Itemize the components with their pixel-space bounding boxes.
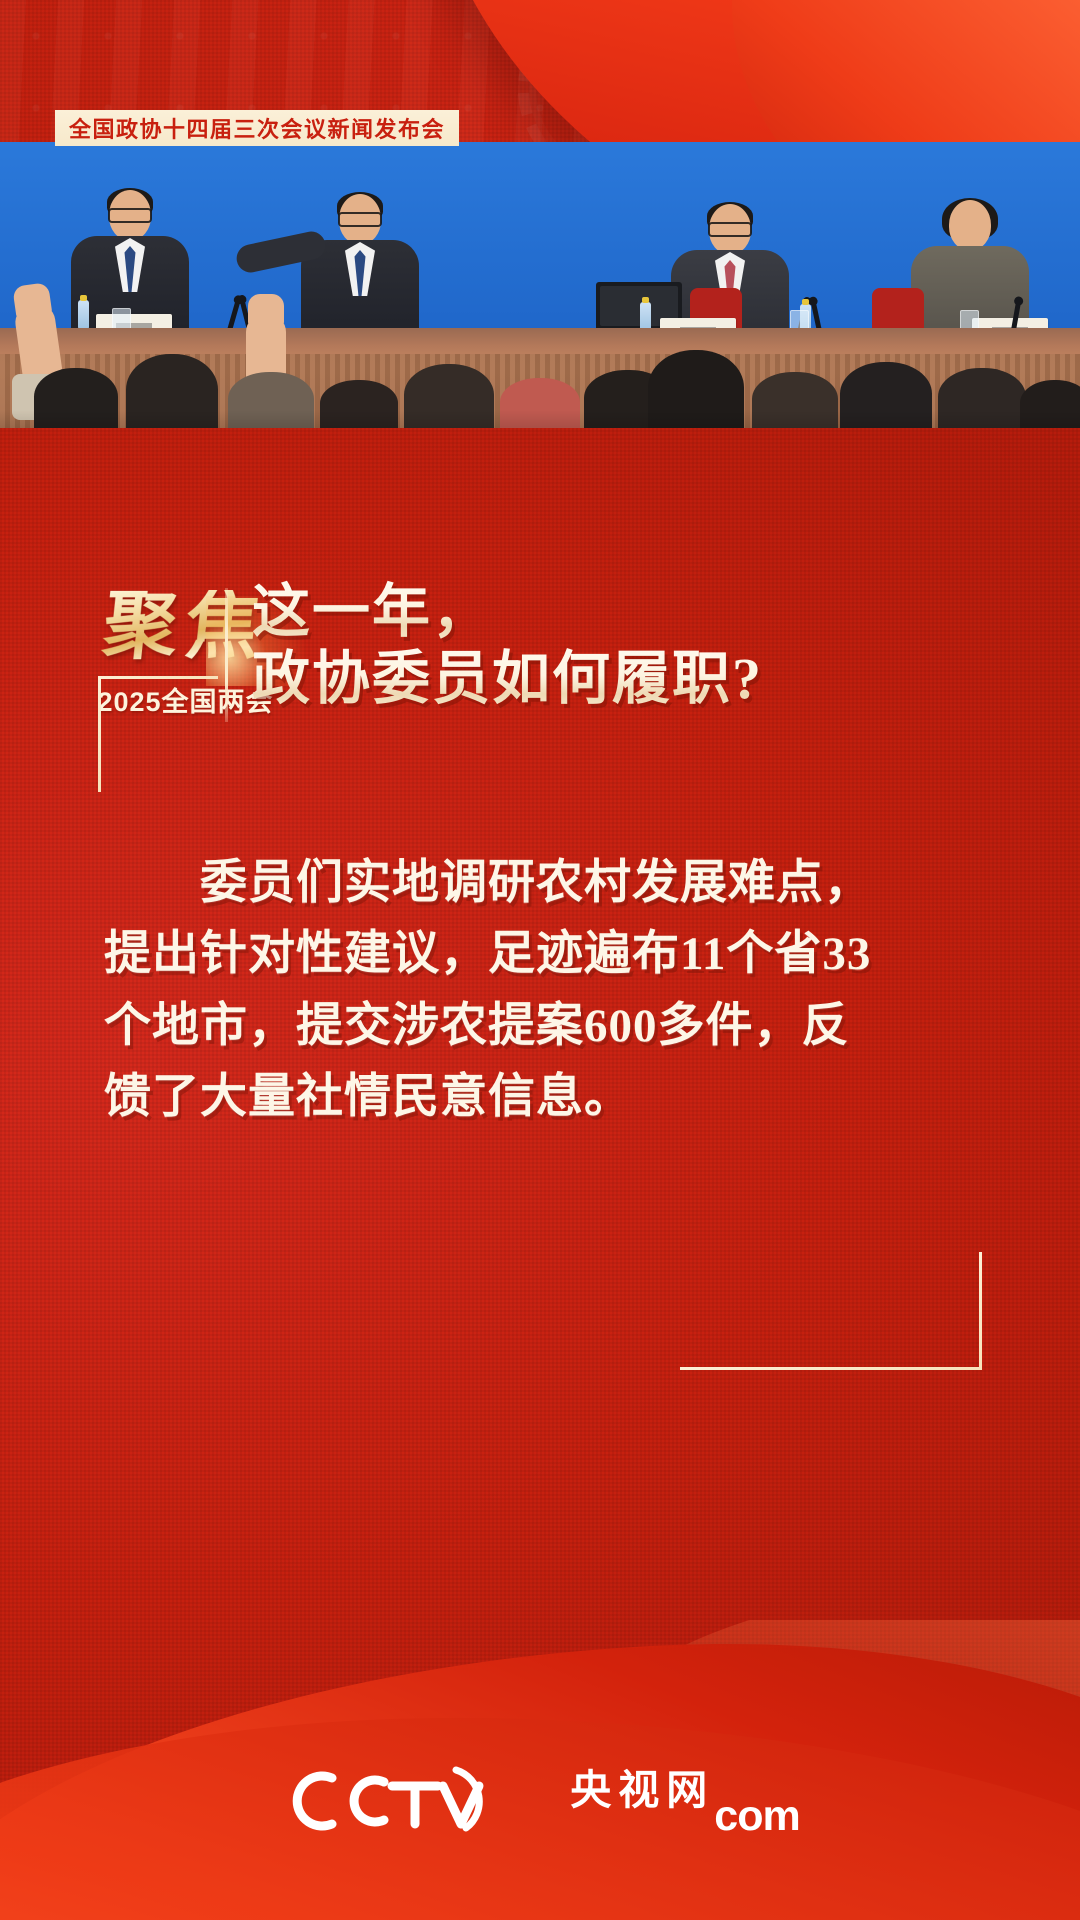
cctv-wordmark-icon xyxy=(280,1764,564,1838)
photo-official-2 xyxy=(290,194,430,344)
headline: 这一年， 政协委员如何履职? xyxy=(252,578,1042,713)
photo-official-4-head xyxy=(949,200,991,250)
photo-bottom-shadow xyxy=(0,410,1080,428)
cctv-chinese-label: 央视网 xyxy=(570,1770,714,1811)
title-vertical-divider xyxy=(225,588,228,722)
body-line: 个地市，提交涉农提案600多件，反 xyxy=(104,991,976,1062)
photo-official-3-glasses-icon xyxy=(708,222,752,237)
headline-line-2: 政协委员如何履职? xyxy=(252,645,1042,712)
bracket-horizontal-rule xyxy=(680,1367,982,1370)
photo-official-2-glasses-icon xyxy=(338,212,382,227)
bracket-vertical-rule xyxy=(979,1252,982,1370)
photo-water-bottle-1 xyxy=(78,300,89,330)
corner-bracket-top-left xyxy=(98,676,218,792)
corner-bracket-bottom-right xyxy=(680,1252,982,1370)
body-paragraph: 委员们实地调研农村发展难点， 提出针对性建议，足迹遍布11个省33 个地市，提交… xyxy=(104,848,976,1134)
conference-caption-text: 全国政协十四届三次会议新闻发布会 xyxy=(69,112,445,144)
cctv-text-stack: 央视网 xyxy=(570,1770,714,1833)
headline-line-1: 这一年， xyxy=(252,578,1042,645)
bracket-vertical-rule xyxy=(98,676,101,792)
press-conference-photo xyxy=(0,142,1080,428)
body-line: 馈了大量社情民意信息。 xyxy=(104,1062,976,1133)
photo-official-1-glasses-icon xyxy=(108,208,152,223)
poster-root: 全国政协十四届三次会议新闻发布会 xyxy=(0,0,1080,1920)
conference-caption-plaque: 全国政协十四届三次会议新闻发布会 xyxy=(55,110,459,146)
bracket-horizontal-rule xyxy=(98,676,218,679)
cctv-logo: 央视网 com xyxy=(0,1764,1080,1838)
body-line: 提出针对性建议，足迹遍布11个省33 xyxy=(104,919,976,990)
body-line: 委员们实地调研农村发展难点， xyxy=(104,848,976,919)
photo-red-chair-2 xyxy=(872,288,924,332)
cctv-com-label: com xyxy=(714,1795,799,1838)
